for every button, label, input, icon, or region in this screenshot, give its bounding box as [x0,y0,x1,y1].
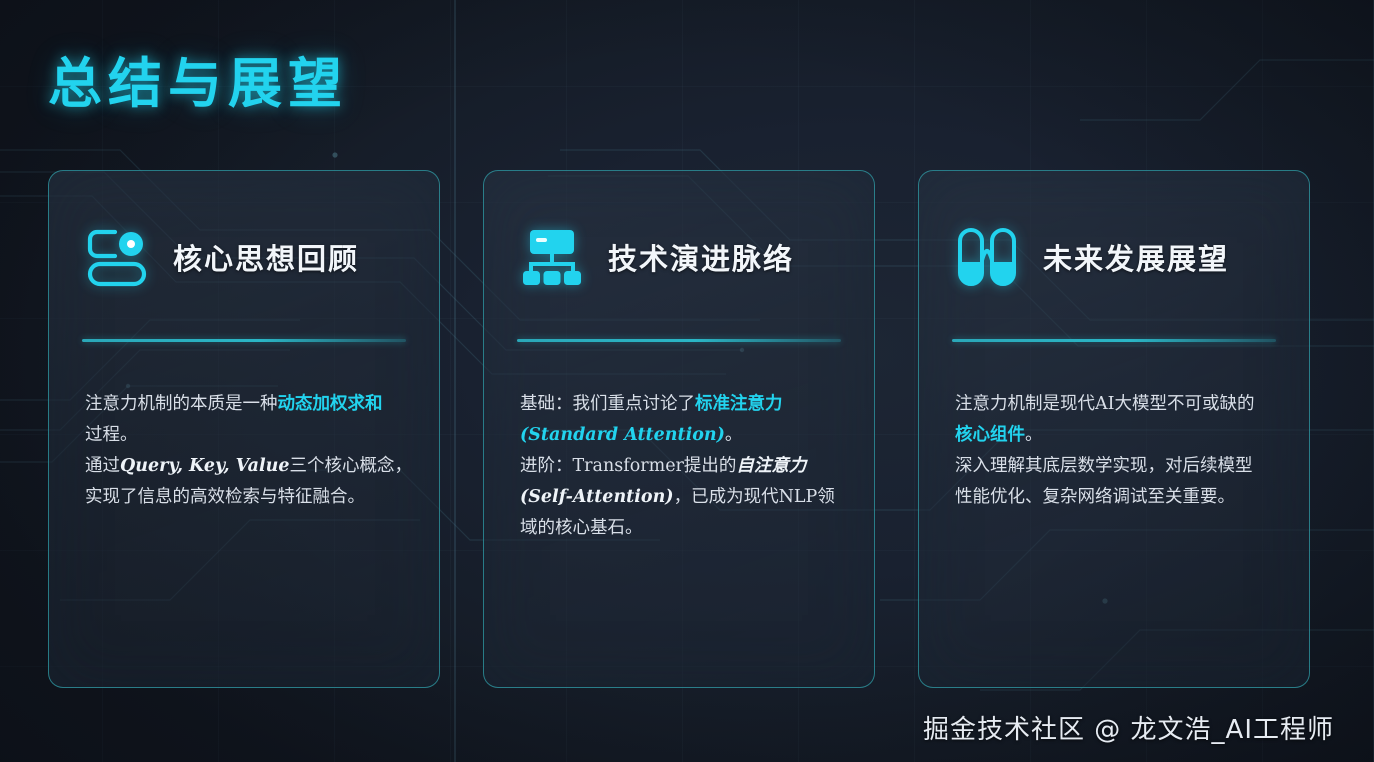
memory-chip-icon [85,226,149,288]
text-segment: Query, Key, Value [120,456,289,476]
card-body-line: (Standard Attention)。 [520,420,848,451]
text-segment: (Standard Attention) [520,425,725,445]
text-segment: ，已成为现代NLP领 [674,487,835,507]
card-body-line: 注意力机制的本质是一种动态加权求和 [85,389,413,420]
card-body-line: 注意力机制是现代AI大模型不可或缺的 [955,389,1283,420]
card-body-line: (Self-Attention)，已成为现代NLP领 [520,482,848,513]
card-header: 核心思想回顾 [85,221,419,293]
text-segment: 核心组件 [955,425,1025,445]
text-segment: 注意力机制的本质是一种 [85,394,278,414]
text-segment: 动态加权求和 [278,394,383,414]
card-body-line: 深入理解其底层数学实现，对后续模型 [955,451,1283,482]
card-body: 注意力机制是现代AI大模型不可或缺的核心组件。深入理解其底层数学实现，对后续模型… [955,389,1283,513]
card-title: 未来发展展望 [1043,236,1229,278]
text-segment: 自注意力 [736,456,806,476]
card-body: 基础：我们重点讨论了标准注意力(Standard Attention)。进阶：T… [520,389,848,544]
card-body: 注意力机制的本质是一种动态加权求和过程。通过Query, Key, Value三… [85,389,413,513]
card-group: 核心思想回顾 注意力机制的本质是一种动态加权求和过程。通过Query, Key,… [0,0,1374,762]
card-core-idea[interactable]: 核心思想回顾 注意力机制的本质是一种动态加权求和过程。通过Query, Key,… [48,170,440,688]
text-segment: 通过 [85,456,120,476]
text-segment: (Self-Attention) [520,487,674,507]
card-body-line: 基础：我们重点讨论了标准注意力 [520,389,848,420]
card-body-line: 性能优化、复杂网络调试至关重要。 [955,482,1283,513]
text-segment: 性能优化、复杂网络调试至关重要。 [955,487,1235,507]
card-body-line: 域的核心基石。 [520,513,848,544]
card-divider [517,339,841,342]
text-segment: 深入理解其底层数学实现，对后续模型 [955,456,1253,476]
text-segment: 进阶：Transformer提出的 [520,456,736,476]
card-title: 核心思想回顾 [173,236,359,278]
binoculars-icon [955,226,1019,288]
card-divider [952,339,1276,342]
text-segment: 标准注意力 [695,394,783,414]
text-segment: 基础：我们重点讨论了 [520,394,695,414]
text-segment: 过程。 [85,425,138,445]
text-segment: 域的核心基石。 [520,518,643,538]
card-body-line: 实现了信息的高效检索与特征融合。 [85,482,413,513]
footer-credit: 掘金技术社区 @ 龙文浩_AI工程师 [923,709,1334,746]
card-body-line: 进阶：Transformer提出的自注意力 [520,451,848,482]
card-header: 未来发展展望 [955,221,1289,293]
card-body-line: 过程。 [85,420,413,451]
card-tech-evolution[interactable]: 技术演进脉络 基础：我们重点讨论了标准注意力(Standard Attentio… [483,170,875,688]
card-body-line: 核心组件。 [955,420,1283,451]
card-body-line: 通过Query, Key, Value三个核心概念， [85,451,413,482]
text-segment: 注意力机制是现代AI大模型不可或缺的 [955,394,1255,414]
card-header: 技术演进脉络 [520,221,854,293]
text-segment: 实现了信息的高效检索与特征融合。 [85,487,365,507]
text-segment: 三个核心概念， [289,456,412,476]
text-segment: 。 [1025,425,1043,445]
hierarchy-sitemap-icon [520,226,584,288]
text-segment: 。 [725,425,743,445]
card-future-outlook[interactable]: 未来发展展望 注意力机制是现代AI大模型不可或缺的核心组件。深入理解其底层数学实… [918,170,1310,688]
card-title: 技术演进脉络 [608,236,794,278]
card-divider [82,339,406,342]
